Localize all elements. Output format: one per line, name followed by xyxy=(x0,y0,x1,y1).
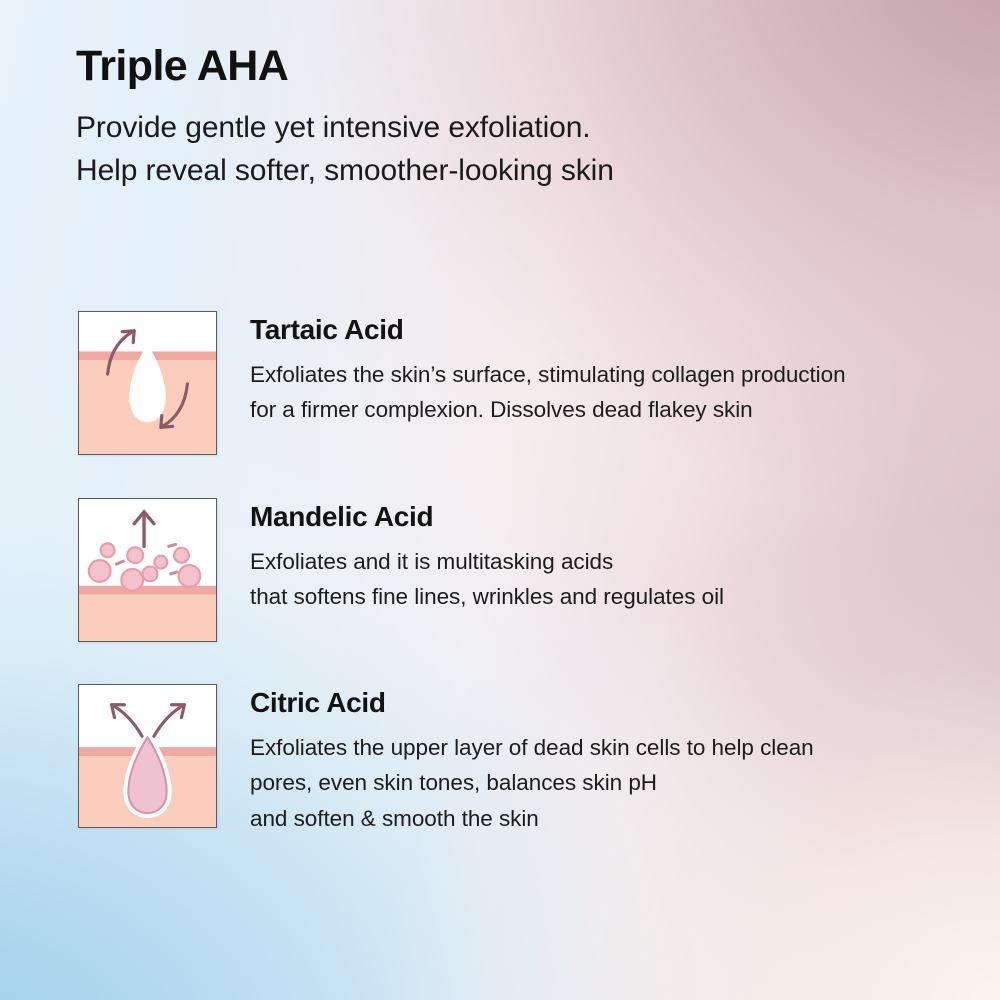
list-item: Citric Acid Exfoliates the upper layer o… xyxy=(78,684,978,836)
citric-acid-text: Citric Acid Exfoliates the upper layer o… xyxy=(217,684,978,836)
list-item: Tartaic Acid Exfoliates the skin’s surfa… xyxy=(78,311,978,455)
ingredient-name: Tartaic Acid xyxy=(250,313,978,347)
header-block: Triple AHA Provide gentle yet intensive … xyxy=(76,42,936,192)
ingredient-name: Citric Acid xyxy=(250,686,978,720)
skin-layer-pink-droplet-outward-arrows-icon xyxy=(79,685,216,827)
ingredient-list: Tartaic Acid Exfoliates the skin’s surfa… xyxy=(78,311,978,836)
mandelic-acid-icon-box xyxy=(78,498,217,642)
list-item: Mandelic Acid Exfoliates and it is multi… xyxy=(78,498,978,642)
ingredient-description: Exfoliates the skin’s surface, stimulati… xyxy=(250,347,978,428)
citric-acid-icon-box xyxy=(78,684,217,828)
infographic-poster: Triple AHA Provide gentle yet intensive … xyxy=(0,0,1000,1000)
skin-layer-rising-particles-up-arrow-icon xyxy=(79,499,216,641)
mandelic-acid-text: Mandelic Acid Exfoliates and it is multi… xyxy=(217,498,978,615)
ingredient-description: Exfoliates and it is multitasking acids … xyxy=(250,534,978,615)
ingredient-description: Exfoliates the upper layer of dead skin … xyxy=(250,720,978,837)
tartaic-acid-text: Tartaic Acid Exfoliates the skin’s surfa… xyxy=(217,311,978,428)
page-title: Triple AHA xyxy=(76,42,936,90)
skin-layer-white-droplet-circulating-arrows-icon xyxy=(79,312,216,454)
ingredient-name: Mandelic Acid xyxy=(250,500,978,534)
tartaic-acid-icon-box xyxy=(78,311,217,455)
page-subtitle: Provide gentle yet intensive exfoliation… xyxy=(76,90,936,192)
